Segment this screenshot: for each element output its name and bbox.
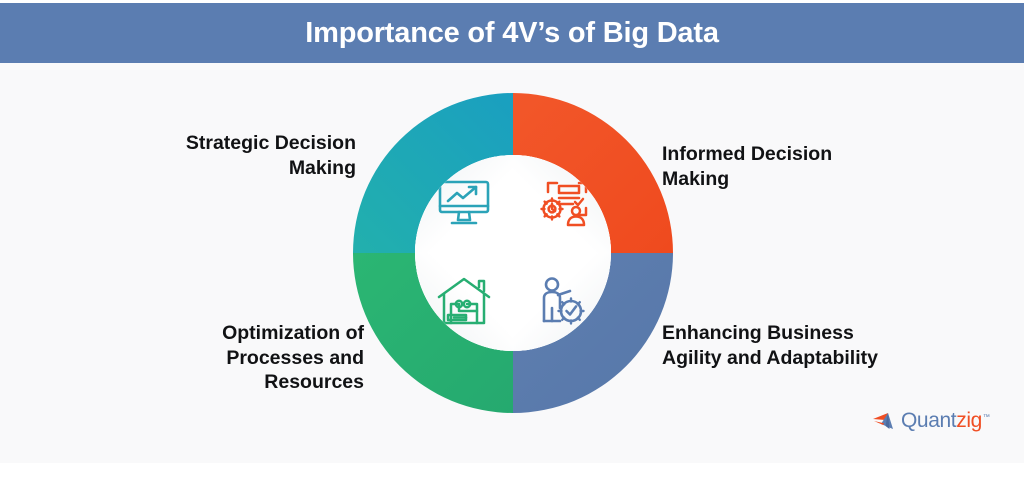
- label-line: Enhancing Business: [662, 321, 1002, 346]
- quantzig-logo-text: Quantzig™: [901, 410, 989, 431]
- segment-label-informed-decision-making: Informed Decision Making: [662, 142, 992, 191]
- label-line: Agility and Adaptability: [662, 346, 1002, 371]
- icon-cell-strategic-decision-making[interactable]: [415, 155, 513, 253]
- label-line: Resources: [64, 370, 364, 395]
- clipboard-gear-clock-person-icon: [535, 178, 589, 230]
- segment-label-optimization-of-processes-and-resources: Optimization of Processes and Resources: [64, 321, 364, 395]
- monitor-trend-icon: [437, 179, 491, 229]
- logo-trademark: ™: [983, 414, 990, 421]
- label-line: Informed Decision: [662, 142, 992, 167]
- page-title: Importance of 4V’s of Big Data: [305, 19, 719, 48]
- icon-grid: [415, 155, 611, 351]
- segment-label-strategic-decision-making: Strategic Decision Making: [56, 131, 356, 180]
- icon-cell-enhancing-business-agility[interactable]: [513, 253, 611, 351]
- segment-label-enhancing-business-agility-and-adaptability: Enhancing Business Agility and Adaptabil…: [662, 321, 1002, 370]
- quantzig-logo[interactable]: Quantzig™: [872, 407, 989, 435]
- label-line: Optimization of: [64, 321, 364, 346]
- infographic-page: Importance of 4V’s of Big Data Strategic…: [0, 0, 1024, 485]
- quantzig-logo-mark-icon: [872, 410, 898, 432]
- icon-cell-optimization-of-processes[interactable]: [415, 253, 513, 351]
- header-band: Importance of 4V’s of Big Data: [0, 3, 1024, 63]
- donut-quadrant-diagram: [352, 92, 674, 414]
- person-gear-check-icon: [536, 276, 588, 328]
- content-canvas: Strategic Decision Making Informed Decis…: [0, 63, 1024, 463]
- smart-factory-house-icon: [437, 277, 491, 327]
- label-line: Processes and: [64, 346, 364, 371]
- label-line: Making: [662, 167, 992, 192]
- label-line: Making: [56, 156, 356, 181]
- label-line: Strategic Decision: [56, 131, 356, 156]
- logo-text-zig: zig: [956, 409, 982, 432]
- icon-cell-informed-decision-making[interactable]: [513, 155, 611, 253]
- logo-text-quant: Quant: [901, 409, 956, 432]
